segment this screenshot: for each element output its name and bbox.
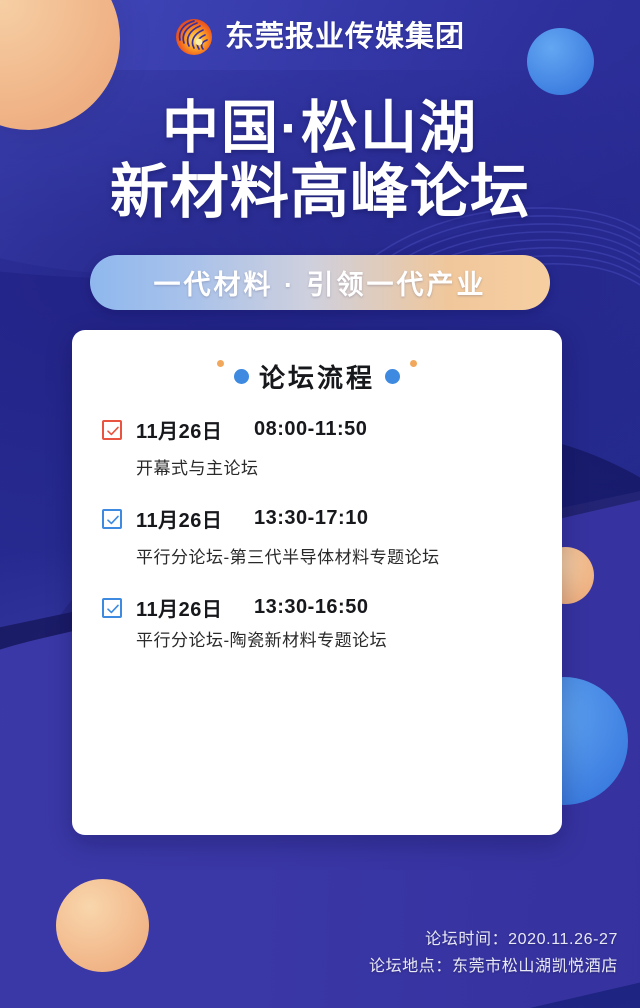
subtitle-pill: 一代材料 · 引领一代产业 <box>90 255 550 310</box>
agenda-item: 11月26日 13:30-17:10 平行分论坛-第三代半导体材料专题论坛 <box>102 504 532 571</box>
brand-name: 东莞报业传媒集团 <box>225 23 465 52</box>
agenda-description: 平行分论坛-第三代半导体材料专题论坛 <box>136 545 466 571</box>
decor-dot-orange-left <box>217 360 224 367</box>
checkbox-checked-icon[interactable] <box>102 420 122 440</box>
poster-canvas: 东莞报业传媒集团 中国·松山湖 新材料高峰论坛 一代材料 · 引领一代产业 论坛… <box>0 0 640 1008</box>
agenda-time: 13:30-17:10 <box>254 507 368 530</box>
agenda-time: 13:30-16:50 <box>254 596 368 619</box>
brand-header: 东莞报业传媒集团 <box>0 18 640 56</box>
decor-dot-blue-left <box>234 369 249 384</box>
poster-footer: 论坛时间：2020.11.26-27 论坛地点：东莞市松山湖凯悦酒店 <box>369 926 618 980</box>
agenda-card: 论坛流程 11月26日 08:00-11:50 开幕式与主论坛 <box>72 330 562 835</box>
agenda-item-row: 11月26日 13:30-17:10 <box>102 504 532 533</box>
poster-title: 中国·松山湖 新材料高峰论坛 <box>0 96 640 224</box>
forum-place-line: 论坛地点：东莞市松山湖凯悦酒店 <box>369 953 618 980</box>
agenda-description: 开幕式与主论坛 <box>136 456 466 482</box>
forum-time-line: 论坛时间：2020.11.26-27 <box>369 926 618 953</box>
agenda-date: 11月26日 <box>136 415 240 444</box>
agenda-item: 11月26日 13:30-16:50 平行分论坛-陶瓷新材料专题论坛 <box>102 593 532 654</box>
decor-dot-blue-right <box>385 369 400 384</box>
checkbox-checked-icon[interactable] <box>102 598 122 618</box>
title-line-2: 新材料高峰论坛 <box>0 160 640 224</box>
agenda-description: 平行分论坛-陶瓷新材料专题论坛 <box>136 628 532 654</box>
agenda-heading-text: 论坛流程 <box>259 358 375 395</box>
agenda-date: 11月26日 <box>136 593 240 622</box>
agenda-date: 11月26日 <box>136 504 240 533</box>
agenda-list: 11月26日 08:00-11:50 开幕式与主论坛 11月26日 13:30-… <box>102 415 532 654</box>
decor-dot-orange-right <box>410 360 417 367</box>
agenda-item-row: 11月26日 08:00-11:50 <box>102 415 532 444</box>
agenda-item-row: 11月26日 13:30-16:50 <box>102 593 532 622</box>
title-line-1: 中国·松山湖 <box>0 96 640 160</box>
decor-circle-bottom-left <box>56 879 149 972</box>
checkbox-checked-icon[interactable] <box>102 509 122 529</box>
agenda-item: 11月26日 08:00-11:50 开幕式与主论坛 <box>102 415 532 482</box>
spiral-swirl-icon <box>175 18 213 56</box>
agenda-time: 08:00-11:50 <box>254 418 367 441</box>
subtitle-text: 一代材料 · 引领一代产业 <box>154 263 487 302</box>
agenda-card-heading: 论坛流程 <box>102 358 532 395</box>
